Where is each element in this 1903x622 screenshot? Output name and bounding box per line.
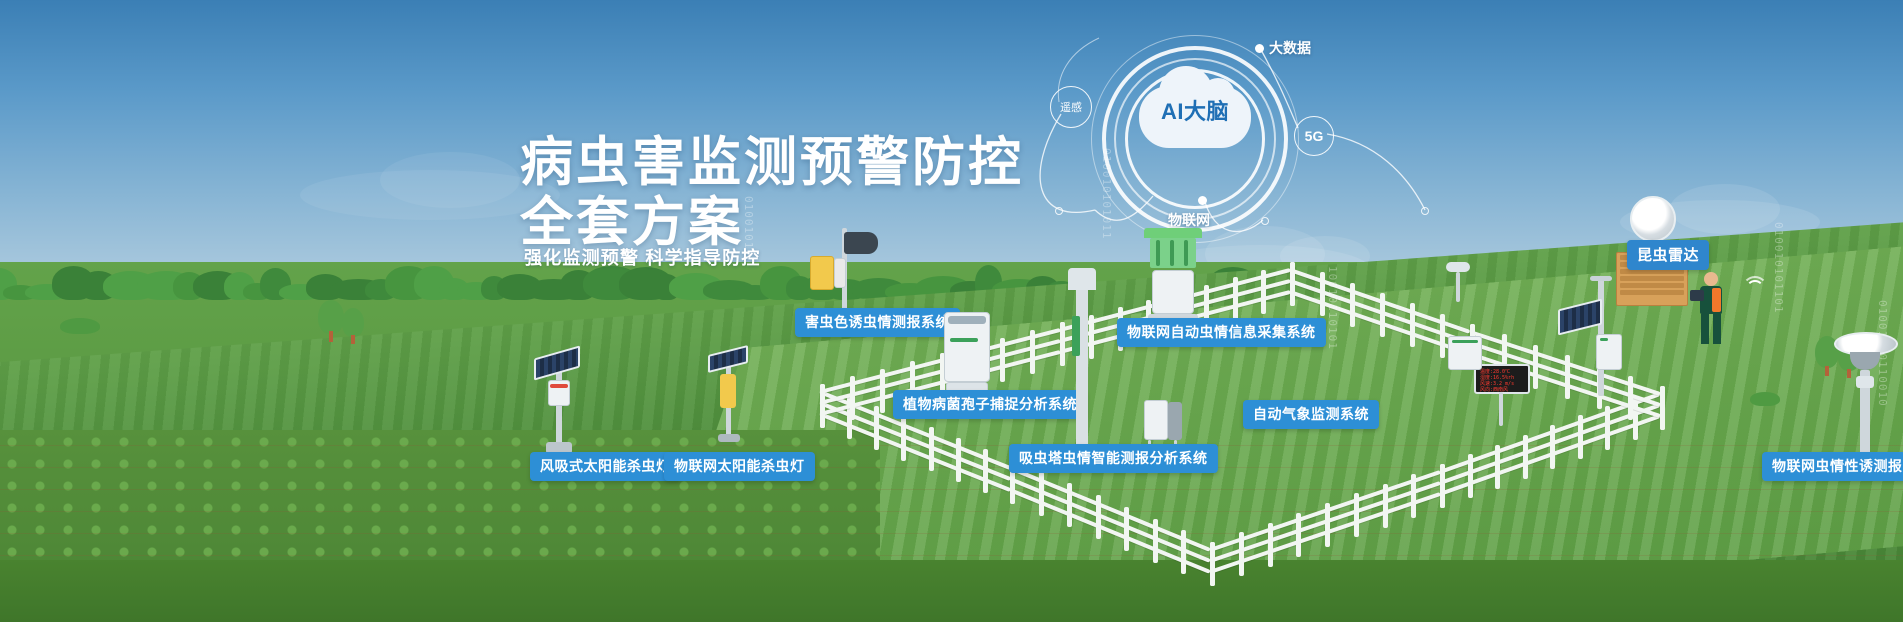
fence-post <box>1153 519 1158 563</box>
hub-node-yaogan[interactable]: 遥感 <box>1050 86 1092 128</box>
fence-post <box>956 438 961 482</box>
fence-post <box>1039 472 1044 516</box>
tree <box>342 308 364 344</box>
fence-post <box>1354 493 1359 537</box>
fence-post <box>1383 484 1388 528</box>
bush <box>60 318 100 334</box>
device-wind-solar-lamp[interactable] <box>528 326 598 452</box>
device-roadside-cabinet[interactable] <box>1448 336 1492 392</box>
page-subtitle: 强化监测预警 科学指导防控 <box>524 244 761 270</box>
ai-brain-hub: AI大脑 遥感 5G 大数据 物联网 <box>1055 24 1475 264</box>
fence-post <box>901 417 906 461</box>
label-iot-pest-collector: 物联网自动虫情信息采集系统 <box>1117 318 1326 347</box>
device-iot-solar-lamp[interactable] <box>700 326 762 442</box>
label-wind-solar-lamp: 风吸式太阳能杀虫灯 <box>530 452 681 481</box>
fence-post <box>1181 530 1186 574</box>
device-spore-analyzer[interactable] <box>944 312 996 400</box>
fence-post <box>983 449 988 493</box>
hub-node-dot-bigdata <box>1255 44 1264 53</box>
wifi-icon <box>1742 276 1768 302</box>
fence-post <box>1067 483 1072 527</box>
page-title: 病虫害监测预警防控 全套方案 <box>520 133 1024 253</box>
bush <box>1750 392 1780 406</box>
fence-post <box>1380 293 1385 337</box>
device-weather-station[interactable] <box>1556 276 1642 396</box>
fence-post <box>1239 532 1244 576</box>
fence-post <box>1290 262 1295 306</box>
label-suction-tower: 吸虫塔虫情智能测报分析系统 <box>1009 444 1218 473</box>
hub-node-label: 遥感 <box>1060 99 1082 115</box>
fence-post <box>1468 454 1473 498</box>
led-board-pole <box>1499 392 1503 426</box>
fence-post <box>1440 464 1445 508</box>
hub-endpoint-dot <box>1261 217 1269 225</box>
binary-decor: 010010101101 <box>1772 222 1785 313</box>
fence-post <box>1000 338 1005 382</box>
page-title-line1: 病虫害监测预警防控 <box>520 133 1024 193</box>
fence-post <box>1350 283 1355 327</box>
fence-post <box>1296 513 1301 557</box>
fence-post <box>1325 503 1330 547</box>
field-worker <box>1694 272 1734 350</box>
fence-post <box>1320 272 1325 316</box>
fence-post <box>1096 495 1101 539</box>
binary-decor: 10010110101 <box>1326 266 1339 350</box>
hub-endpoint-dot <box>1421 207 1429 215</box>
fence-post <box>1495 445 1500 489</box>
cloud-shape <box>380 152 520 208</box>
fence-post <box>1633 396 1638 440</box>
fence-post <box>1605 406 1610 450</box>
device-wifi-sensor[interactable] <box>1434 262 1484 302</box>
hub-node-label-iot: 物联网 <box>1168 210 1210 230</box>
fence-post <box>874 406 879 450</box>
label-insect-radar: 昆虫雷达 <box>1627 240 1709 270</box>
fence-post <box>1533 345 1538 389</box>
fence-post <box>1210 542 1215 586</box>
fence-post <box>1411 474 1416 518</box>
foreground-strip <box>0 560 1903 622</box>
label-iot-pheromone-trap: 物联网虫情性诱测报系统 <box>1762 452 1903 481</box>
hub-node-5g[interactable]: 5G <box>1294 116 1334 156</box>
fence-post <box>1578 415 1583 459</box>
fence-post <box>1440 314 1445 358</box>
hero-banner: 0100101 010010101011 10010110101 0100101… <box>0 0 1903 622</box>
fence-post <box>1660 386 1665 430</box>
fence-post <box>1261 270 1266 314</box>
fence-post <box>1523 435 1528 479</box>
label-color-trap: 害虫色诱虫情测报系统 <box>795 308 960 337</box>
fence-post <box>1124 507 1129 551</box>
fence-post <box>850 376 855 420</box>
fence-post <box>820 384 825 428</box>
fence-post <box>880 369 885 413</box>
fence-post <box>1268 523 1273 567</box>
device-suction-tower[interactable] <box>1060 268 1106 464</box>
hub-endpoint-dot <box>1055 207 1063 215</box>
hub-node-label-bigdata: 大数据 <box>1269 38 1311 58</box>
fence-post <box>1030 330 1035 374</box>
fence-post <box>929 427 934 471</box>
ai-brain-label: AI大脑 <box>1139 94 1251 126</box>
label-spore-analyzer: 植物病菌孢子捕捉分析系统 <box>893 390 1087 419</box>
label-iot-solar-lamp: 物联网太阳能杀虫灯 <box>664 452 815 481</box>
tree <box>318 300 344 342</box>
label-weather-station: 自动气象监测系统 <box>1243 400 1379 429</box>
device-iot-pheromone-trap[interactable] <box>1828 332 1903 472</box>
fence-post <box>1550 425 1555 469</box>
fence-post <box>1233 277 1238 321</box>
fence-post <box>1410 303 1415 347</box>
hub-node-label: 5G <box>1305 128 1324 144</box>
hub-node-dot-iot <box>1198 196 1207 205</box>
